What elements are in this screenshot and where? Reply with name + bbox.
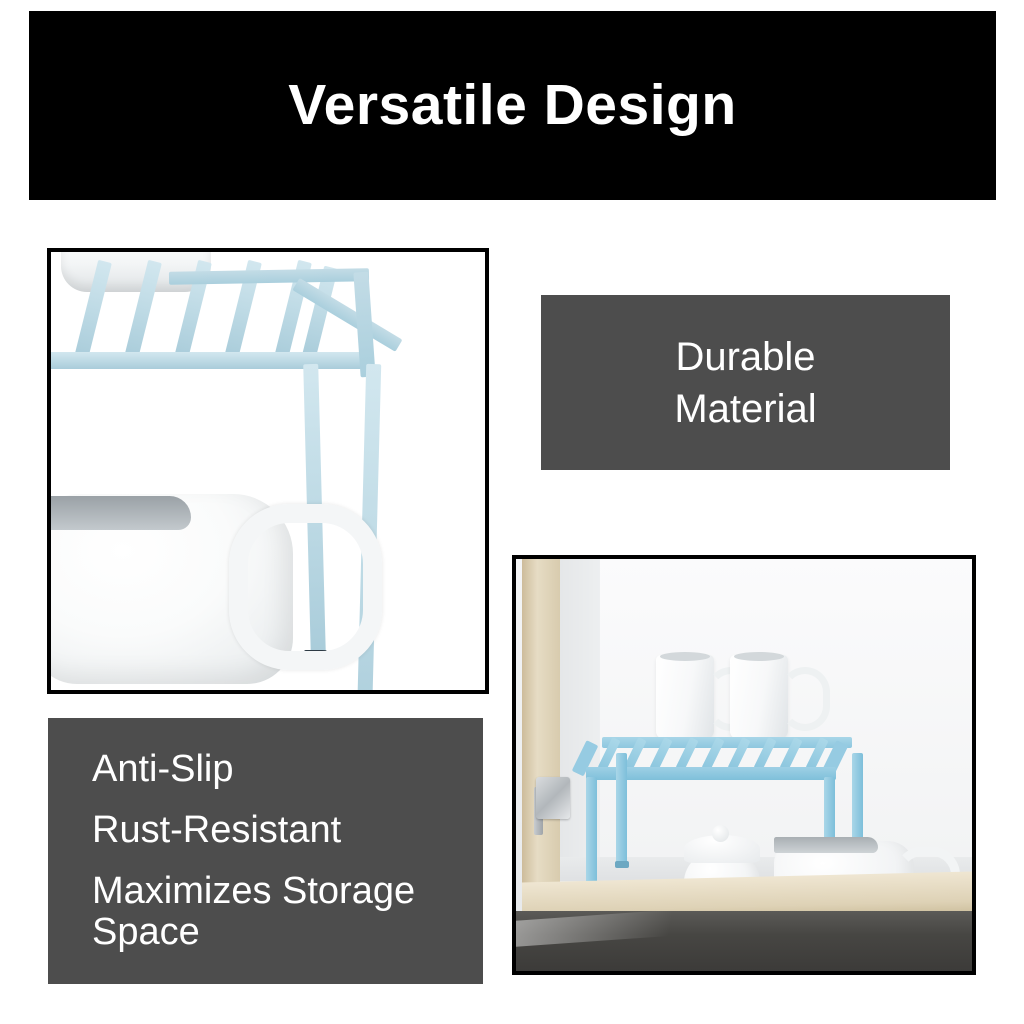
shelf-back-rail: [169, 268, 369, 284]
header-banner: Versatile Design: [29, 11, 996, 200]
infographic-page: Versatile Design: [0, 0, 1024, 1024]
mug-handle: [780, 667, 830, 731]
feature-maximizes-storage: Maximizes Storage Space: [92, 871, 483, 953]
shelf-foot-cap: [615, 861, 629, 868]
callout-features: Anti-Slip Rust-Resistant Maximizes Stora…: [48, 718, 483, 984]
shelf-front-rail: [47, 352, 373, 369]
product-in-use-photo: [512, 555, 976, 975]
durable-line-1: Durable: [675, 331, 815, 383]
feature-anti-slip: Anti-Slip: [92, 749, 483, 790]
durable-line-2: Material: [674, 383, 816, 435]
shelf-leg: [586, 777, 597, 895]
cabinet-door: [522, 559, 560, 889]
sugar-bowl-knob: [712, 825, 729, 842]
creamer-handle: [229, 504, 382, 670]
top-mug: [61, 248, 211, 292]
feature-rust-resistant: Rust-Resistant: [92, 810, 483, 851]
creamer-rim: [774, 837, 878, 853]
page-title: Versatile Design: [288, 77, 736, 134]
shelf-leg: [616, 753, 627, 863]
closeup-scene: [51, 252, 485, 690]
countertop: [516, 911, 972, 971]
creamer-rim: [47, 496, 191, 530]
cabinet-hinge-icon: [536, 777, 570, 819]
cabinet-scene: [516, 559, 972, 971]
callout-durable-material: Durable Material: [541, 295, 950, 470]
product-closeup-photo: [47, 248, 489, 694]
